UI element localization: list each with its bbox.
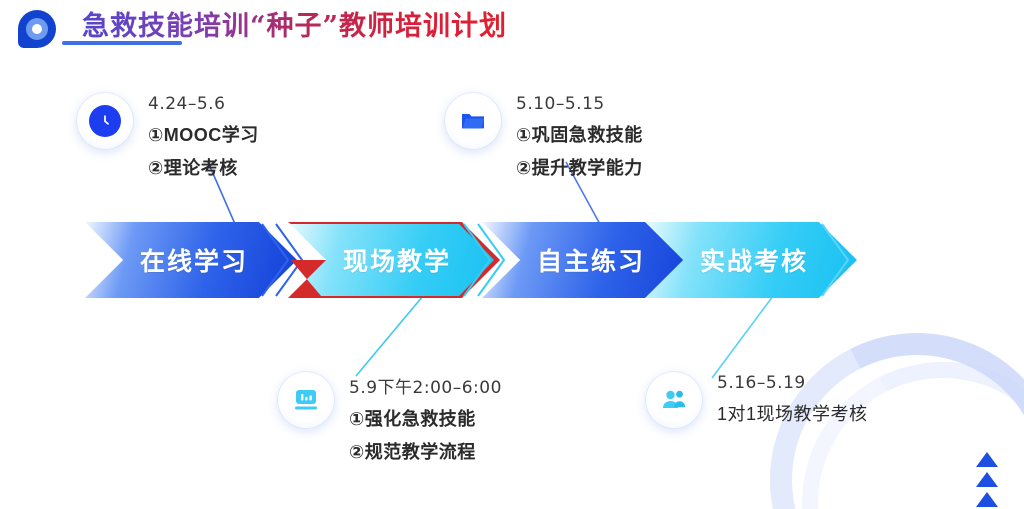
callout-line: 1对1现场教学考核 (717, 400, 868, 426)
callout-self-practice: 5.9下午2:00–6:00 ①强化急救技能 ②规范教学流程 (277, 371, 502, 471)
callout-icon-wrap (444, 92, 502, 150)
callout-online-study: 4.24–5.6 ①MOOC学习 ②理论考核 (76, 92, 259, 187)
stage-label: 实战考核 (700, 242, 808, 278)
callout-date: 5.9下午2:00–6:00 (349, 373, 502, 398)
stage-label: 自主练习 (537, 242, 645, 278)
stage-label: 在线学习 (140, 242, 248, 278)
folder-icon (457, 105, 489, 137)
process-chevron-bar: 在线学习 现场教学 自主练习 实战考核 (0, 222, 1024, 298)
callout-icon-wrap (277, 371, 335, 429)
callout-icon-wrap (645, 371, 703, 429)
triangle-stack-decoration (976, 452, 998, 507)
users-icon (658, 384, 690, 416)
slide-header: 急救技能培训“种子”教师培训计划 (0, 0, 1024, 56)
callout-text: 5.10–5.15 ①巩固急救技能 ②提升教学能力 (516, 92, 643, 187)
slide-canvas: 急救技能培训“种子”教师培训计划 在线学习 现场教学 自主练习 (0, 0, 1024, 509)
callout-line: ①巩固急救技能 (516, 121, 643, 147)
callout-date: 5.10–5.15 (516, 94, 643, 114)
callout-practical-assessment: 5.16–5.19 1对1现场教学考核 (645, 371, 868, 433)
callout-icon-wrap (76, 92, 134, 150)
triangle-icon (976, 472, 998, 487)
clock-icon (89, 105, 121, 137)
stage-ghost-chevron-4 (818, 222, 866, 298)
callout-text: 5.9下午2:00–6:00 ①强化急救技能 ②规范教学流程 (349, 371, 502, 471)
callout-onsite-teaching: 5.10–5.15 ①巩固急救技能 ②提升教学能力 (444, 92, 643, 187)
callout-line: ①MOOC学习 (148, 121, 259, 147)
callout-text: 4.24–5.6 ①MOOC学习 ②理论考核 (148, 92, 259, 187)
triangle-icon (976, 492, 998, 507)
stage-label: 现场教学 (343, 242, 451, 278)
callout-line: ②提升教学能力 (516, 154, 643, 180)
callout-text: 5.16–5.19 1对1现场教学考核 (717, 371, 868, 433)
callout-line: ②规范教学流程 (349, 438, 502, 464)
callout-line: ①强化急救技能 (349, 405, 502, 431)
callout-date: 5.16–5.19 (717, 373, 868, 393)
logo-inner-dot (32, 24, 42, 34)
callout-line: ②理论考核 (148, 154, 259, 180)
brand-logo-icon (18, 10, 56, 48)
monitor-chart-icon (290, 384, 322, 416)
callout-date: 4.24–5.6 (148, 94, 259, 114)
triangle-icon (976, 452, 998, 467)
page-title: 急救技能培训“种子”教师培训计划 (82, 4, 507, 43)
